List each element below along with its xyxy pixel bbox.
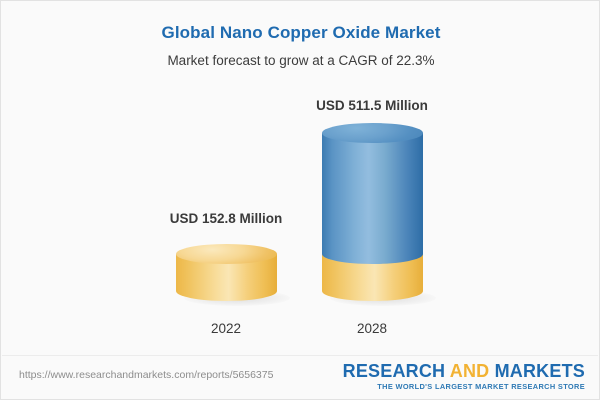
logo-wordmark: RESEARCH AND MARKETS xyxy=(343,361,585,381)
data-label-2022: USD 152.8 Million xyxy=(126,211,326,226)
cylinder-body xyxy=(322,133,423,254)
chart-card: Global Nano Copper Oxide Market Market f… xyxy=(0,0,600,400)
bar-segment-growth-2028 xyxy=(322,123,423,264)
logo-word-research: RESEARCH xyxy=(343,361,446,381)
brand-logo[interactable]: RESEARCH AND MARKETS THE WORLD'S LARGEST… xyxy=(343,361,585,392)
category-label-2028: 2028 xyxy=(312,321,432,336)
cylinder-top-ellipse xyxy=(176,244,277,264)
bar-cylinder-2028[interactable] xyxy=(322,123,423,301)
category-label-2022: 2022 xyxy=(166,321,286,336)
chart-title: Global Nano Copper Oxide Market xyxy=(1,23,600,43)
logo-word-and: AND xyxy=(445,361,494,381)
data-label-2028: USD 511.5 Million xyxy=(272,98,472,113)
plot-area: USD 152.8 Million USD 511.5 Million xyxy=(1,81,600,346)
source-url[interactable]: https://www.researchandmarkets.com/repor… xyxy=(19,369,273,381)
bar-cylinder-2022[interactable] xyxy=(176,244,277,301)
logo-tagline: THE WORLD'S LARGEST MARKET RESEARCH STOR… xyxy=(343,382,585,392)
footer: https://www.researchandmarkets.com/repor… xyxy=(1,356,600,400)
cylinder-top-ellipse xyxy=(322,123,423,143)
bar-segment-base-2022 xyxy=(176,244,277,301)
logo-word-markets: MARKETS xyxy=(495,361,585,381)
chart-subtitle: Market forecast to grow at a CAGR of 22.… xyxy=(1,53,600,68)
